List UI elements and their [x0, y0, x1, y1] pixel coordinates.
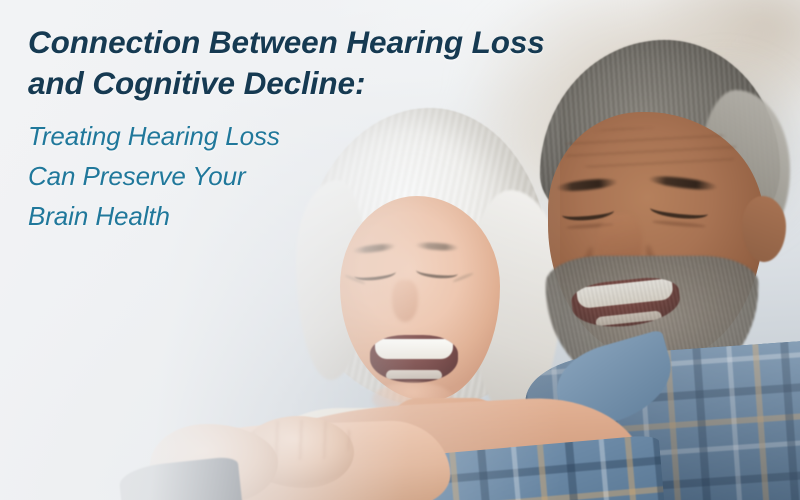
- copy-block: Connection Between Hearing Loss and Cogn…: [28, 22, 648, 236]
- woman-lower-teeth: [386, 370, 442, 379]
- subhead-line-2: Can Preserve Your: [28, 156, 648, 196]
- woman-mouth: [370, 335, 458, 383]
- woman-nose: [392, 280, 418, 322]
- subhead-line-3: Brain Health: [28, 196, 648, 236]
- subhead-line-1: Treating Hearing Loss: [28, 116, 648, 156]
- headline-line-2: and Cognitive Decline:: [28, 63, 648, 104]
- man-ear: [742, 196, 786, 262]
- headline-line-1: Connection Between Hearing Loss: [28, 22, 648, 63]
- woman-upper-teeth: [375, 339, 453, 359]
- dark-sleeve: [118, 456, 242, 500]
- hero-banner: Connection Between Hearing Loss and Cogn…: [0, 0, 800, 500]
